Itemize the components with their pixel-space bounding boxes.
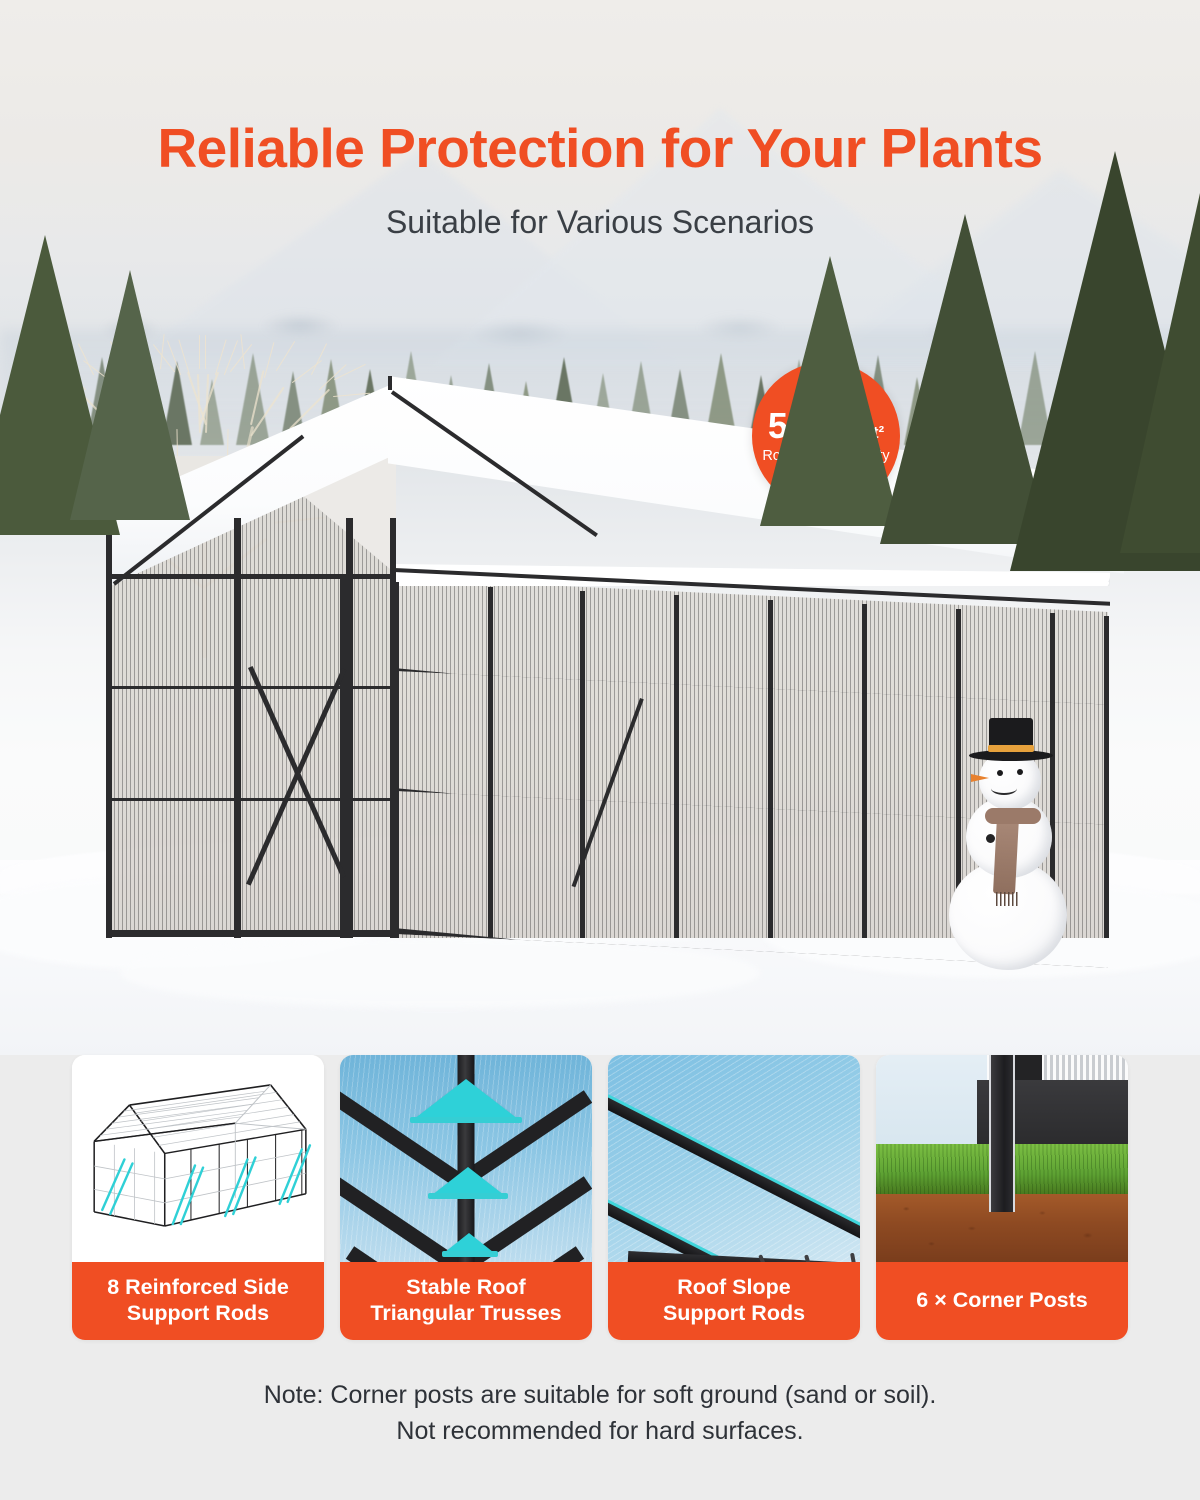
conifer-tree-foreground xyxy=(70,270,190,520)
greenhouse-front-rail xyxy=(106,574,396,579)
footnote-line-1: Note: Corner posts are suitable for soft… xyxy=(0,1378,1200,1414)
greenhouse-vertical-post xyxy=(862,604,867,938)
feature-label-line1: Roof Slope xyxy=(677,1275,790,1299)
greenhouse-vertical-post xyxy=(768,600,773,938)
conifer-tree-foreground xyxy=(1120,193,1200,553)
greenhouse-wireframe-icon xyxy=(72,1055,324,1262)
feature-label-line2: Triangular Trusses xyxy=(370,1301,561,1325)
roof-ridge xyxy=(388,376,392,390)
snowman-smile xyxy=(991,782,1017,795)
product-feature-page: 5.12 lbs/ft² Roof Load Capacity Reliable… xyxy=(0,0,1200,1500)
greenhouse-front-post xyxy=(106,518,112,938)
conifer-tree-foreground xyxy=(760,256,900,526)
feature-label-side-support-rods: 8 Reinforced Side Support Rods xyxy=(72,1262,324,1340)
feature-media-slope-rods xyxy=(608,1055,860,1262)
greenhouse-vertical-post xyxy=(580,591,585,938)
feature-card-triangular-trusses[interactable]: Stable Roof Triangular Trusses xyxy=(340,1055,592,1340)
truss-triangle-1 xyxy=(414,1079,518,1119)
feature-card-roof-slope-rods[interactable]: Roof Slope Support Rods xyxy=(608,1055,860,1340)
greenhouse-door-frame-right xyxy=(340,574,347,938)
greenhouse-front-post xyxy=(346,518,353,938)
footnote: Note: Corner posts are suitable for soft… xyxy=(0,1378,1200,1449)
feature-label-triangular-trusses: Stable Roof Triangular Trusses xyxy=(340,1262,592,1340)
feature-label-line2: Support Rods xyxy=(127,1301,269,1325)
greenhouse-front-rail xyxy=(106,686,396,689)
feature-media-trusses xyxy=(340,1055,592,1262)
feature-label-line1: 8 Reinforced Side xyxy=(107,1275,289,1299)
hero-photo: 5.12 lbs/ft² Roof Load Capacity Reliable… xyxy=(0,0,1200,1055)
feature-label-line1: 6 × Corner Posts xyxy=(916,1287,1087,1313)
truss-triangle-2 xyxy=(432,1167,504,1195)
greenhouse-vertical-post xyxy=(488,587,493,938)
snowman-scarf-fringe xyxy=(996,892,1018,906)
greenhouse-front-rail xyxy=(106,798,396,801)
feature-card-row: 8 Reinforced Side Support Rods xyxy=(72,1055,1128,1340)
truss-triangle-3 xyxy=(445,1233,493,1252)
greenhouse-vertical-post xyxy=(1104,616,1109,938)
footnote-line-2: Not recommended for hard surfaces. xyxy=(0,1414,1200,1450)
corner-post xyxy=(989,1055,1015,1212)
snowman-scarf-tail xyxy=(993,815,1019,894)
feature-media-corner-post xyxy=(876,1055,1128,1262)
greenhouse-front-post xyxy=(390,518,396,938)
snowman-decoration xyxy=(941,712,1076,974)
carrot-nose-icon xyxy=(971,774,989,782)
greenhouse-door-frame xyxy=(234,574,241,938)
feature-label-corner-posts: 6 × Corner Posts xyxy=(876,1262,1128,1340)
feature-label-roof-slope-rods: Roof Slope Support Rods xyxy=(608,1262,860,1340)
feature-label-line1: Stable Roof xyxy=(406,1275,525,1299)
greenhouse-vertical-post xyxy=(674,595,679,938)
snowman-eye-right xyxy=(1017,769,1023,775)
feature-label-line2: Support Rods xyxy=(663,1301,805,1325)
reinforcement-rod-1 xyxy=(102,1160,124,1210)
snowman-eye-left xyxy=(997,770,1003,776)
top-hat-band xyxy=(988,745,1034,752)
feature-media-wireframe xyxy=(72,1055,324,1262)
feature-card-side-support-rods[interactable]: 8 Reinforced Side Support Rods xyxy=(72,1055,324,1340)
snowman-scarf xyxy=(985,808,1041,824)
feature-card-corner-posts[interactable]: 6 × Corner Posts xyxy=(876,1055,1128,1340)
snowman-button xyxy=(986,834,995,843)
greenhouse-front-rail xyxy=(106,930,396,937)
